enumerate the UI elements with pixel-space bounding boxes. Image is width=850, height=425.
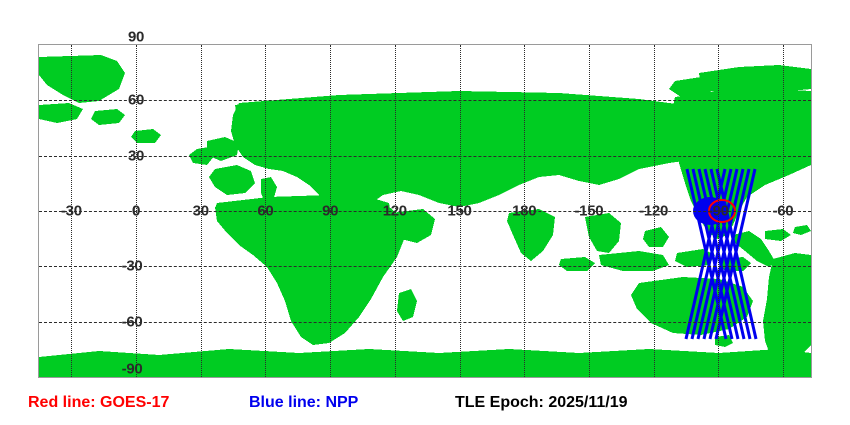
map-legend: Red line: GOES-17 Blue line: NPP TLE Epo… [0, 392, 850, 422]
legend-blue-line: Blue line: NPP [249, 395, 358, 411]
lon-tick-8: -150 [574, 204, 603, 219]
lon-tick-6: 150 [447, 204, 471, 219]
lon-tick-10: -90 [708, 204, 729, 219]
lat-tick-0: 90 [128, 30, 144, 45]
lon-tick-4: 90 [322, 204, 338, 219]
lat-tick-3: 0 [132, 204, 140, 219]
world-map-frame [38, 44, 812, 378]
satellite-track-map-page: -300306090120150180-150-120-90-609060300… [0, 0, 850, 425]
legend-tle-epoch: TLE Epoch: 2025/11/19 [455, 395, 628, 411]
lon-tick-0: -30 [61, 204, 82, 219]
lat-tick-4: -30 [122, 259, 143, 274]
lon-tick-2: 30 [193, 204, 209, 219]
lat-tick-1: 60 [128, 93, 144, 108]
lat-tick-6: -90 [122, 362, 143, 377]
lon-tick-7: 180 [512, 204, 536, 219]
lon-tick-3: 60 [257, 204, 273, 219]
lon-tick-5: 120 [383, 204, 407, 219]
lat-tick-5: -60 [122, 314, 143, 329]
lon-tick-11: -60 [773, 204, 794, 219]
lat-tick-2: 30 [128, 148, 144, 163]
lon-tick-9: -120 [639, 204, 668, 219]
legend-red-line: Red line: GOES-17 [28, 395, 169, 411]
world-map-landmass [39, 45, 811, 377]
